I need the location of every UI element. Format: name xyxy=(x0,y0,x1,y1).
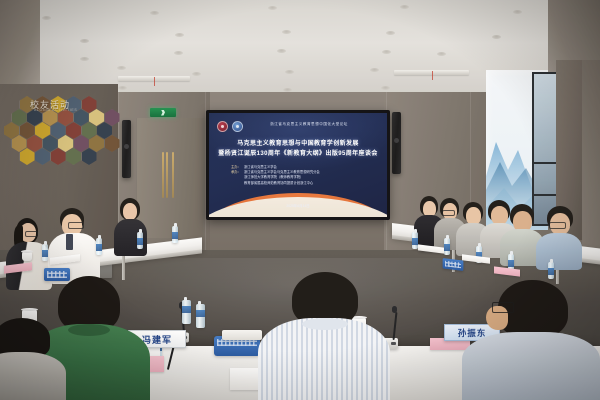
downlight xyxy=(268,6,277,10)
org-value: 教育部省属高校师范教育协同提质计划浙江中心 xyxy=(244,181,313,186)
slide: 浙江省马克思主义教育思想中国化大型论坛 马克思主义教育思想与中国教育学创新发展 … xyxy=(209,113,387,217)
downlight xyxy=(381,86,390,90)
downlight xyxy=(513,10,522,14)
downlight xyxy=(282,30,291,34)
list-item: 教育部省属高校师范教育协同提质计划浙江中心 xyxy=(231,181,377,186)
torso xyxy=(536,233,582,270)
glasses xyxy=(549,222,566,229)
head xyxy=(123,203,137,220)
torso xyxy=(0,352,66,400)
downlight xyxy=(370,68,379,72)
downlight xyxy=(437,52,446,56)
slide-title-line-2: 暨杨贤江诞辰130周年《新教育大纲》出版95周年座谈会 xyxy=(215,149,381,159)
wall-speaker-right xyxy=(392,112,401,174)
water-bottle[interactable] xyxy=(137,232,143,249)
exit-running-man-icon xyxy=(160,110,165,116)
torso xyxy=(462,332,600,400)
slide-title-line-1: 马克思主义教育思想与中国教育学创新发展 xyxy=(215,139,381,149)
downlight xyxy=(192,72,201,76)
downlight xyxy=(277,49,286,53)
downlight xyxy=(150,11,159,15)
attendee-right-6 xyxy=(536,206,582,270)
slide-host-line: 浙江省马克思主义教育思想中国化大型论坛 xyxy=(239,122,379,127)
ceiling-left-soffit xyxy=(0,0,40,96)
downlight xyxy=(285,70,294,74)
water-bottle[interactable] xyxy=(42,244,48,261)
org-key: 承办： xyxy=(231,170,241,175)
downlight xyxy=(117,66,126,70)
downlight xyxy=(400,5,409,9)
wall-speaker-left xyxy=(122,120,131,178)
water-bottle[interactable] xyxy=(548,262,554,279)
downlight xyxy=(42,16,51,20)
microphone-head xyxy=(392,306,397,313)
tea-cup[interactable] xyxy=(22,252,32,261)
university-emblem-red-icon xyxy=(217,121,228,132)
door-handle[interactable] xyxy=(162,152,164,198)
downlight xyxy=(118,86,127,90)
water-bottle[interactable] xyxy=(96,238,102,255)
tissue-box-pattern xyxy=(217,339,257,346)
door-handle[interactable] xyxy=(172,152,174,198)
downlight xyxy=(386,31,395,35)
water-bottle[interactable] xyxy=(196,304,205,328)
downlight xyxy=(174,51,183,55)
attendee-foreground-left-edge xyxy=(0,318,66,400)
tissue-box[interactable] xyxy=(222,330,262,340)
microphone-button[interactable] xyxy=(391,342,396,345)
cup-lid xyxy=(21,250,33,253)
collar xyxy=(302,318,348,330)
hex-wall-subtitle: ALUMNI ACTIVITIES xyxy=(34,108,77,112)
water-bottle[interactable] xyxy=(182,300,191,324)
exit-sign xyxy=(150,108,176,117)
downlight xyxy=(492,35,501,39)
torso xyxy=(258,318,390,400)
glasses xyxy=(442,210,455,216)
downlight xyxy=(80,57,89,61)
ceiling-air-vent xyxy=(394,70,469,75)
slide-title: 马克思主义教育思想与中国教育学创新发展 暨杨贤江诞辰130周年《新教育大纲》出版… xyxy=(215,139,381,159)
slide-date: 2025年6月14日 xyxy=(209,203,387,208)
conference-room-photo: 校友活动 ALUMNI ACTIVITIES 浙江省马克思主义教育思想中国化大型… xyxy=(0,0,600,400)
downlight xyxy=(382,50,391,54)
water-bottle[interactable] xyxy=(172,226,178,243)
downlight xyxy=(175,33,184,37)
presentation-screen[interactable]: 浙江省马克思主义教育思想中国化大型论坛 马克思主义教育思想与中国教育学创新发展 … xyxy=(206,110,390,220)
attendee-foreground-striped xyxy=(258,272,390,400)
slide-organizer-list: 主办： 浙江省马克思主义学会 承办： 浙江省马克思主义学会马克思主义教育思想研究… xyxy=(231,165,377,186)
ceiling-air-vent xyxy=(118,76,190,81)
glasses xyxy=(68,222,84,229)
collar xyxy=(68,324,110,336)
far-right-wall xyxy=(582,60,600,260)
attendee-foreground-right-blue xyxy=(462,280,600,400)
glasses xyxy=(492,302,514,313)
water-bottle[interactable] xyxy=(444,238,450,255)
glasses xyxy=(25,231,38,237)
door-handle[interactable] xyxy=(166,152,168,198)
necktie xyxy=(66,234,73,250)
downlight xyxy=(80,39,89,43)
